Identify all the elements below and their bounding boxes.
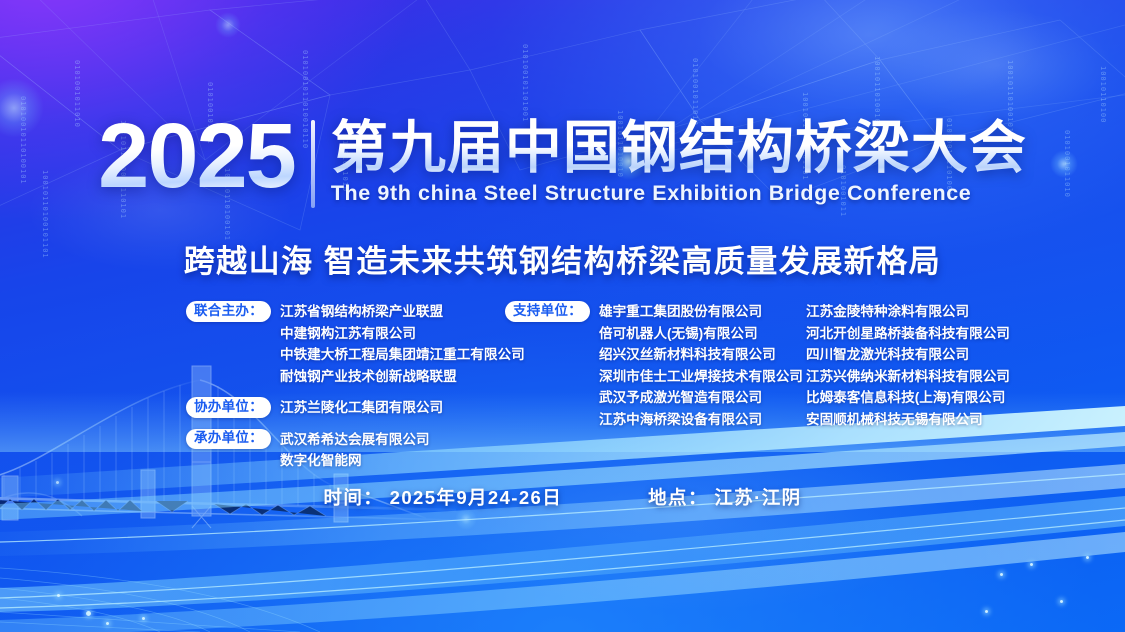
list-item: 耐蚀钢产业技术创新战略联盟 xyxy=(280,366,525,388)
organizer-group-undertaker: 承办单位： 武汉希希达会展有限公司 数字化智能网 xyxy=(186,429,506,472)
list-item: 数字化智能网 xyxy=(280,450,430,472)
list-item: 中铁建大桥工程局集团靖江重工有限公司 xyxy=(280,344,525,366)
banner-content: 2025 第九届中国钢结构桥梁大会 The 9th china Steel St… xyxy=(0,0,1125,632)
organizer-group-supporters: 支持单位： 雄宇重工集团股份有限公司 倍可机器人(无锡)有限公司 绍兴汉丝新材料… xyxy=(505,301,785,430)
organizer-group-co-organizers: 协办单位： 江苏兰陵化工集团有限公司 xyxy=(186,397,506,419)
event-date: 时间： 2025年9月24-26日 xyxy=(323,484,562,510)
title-divider xyxy=(311,120,315,208)
list-item: 比姆泰客信息科技(上海)有限公司 xyxy=(806,387,1066,409)
list-item: 深圳市佳士工业焊接技术有限公司 xyxy=(599,366,803,388)
undertaker-name-list: 武汉希希达会展有限公司 数字化智能网 xyxy=(280,429,430,472)
slogan: 跨越山海 智造未来共筑钢结构桥梁高质量发展新格局 xyxy=(0,236,1125,281)
label-supporters: 支持单位： xyxy=(505,301,590,322)
title-row: 2025 第九届中国钢结构桥梁大会 The 9th china Steel St… xyxy=(0,118,1125,208)
page-title: 第九届中国钢结构桥梁大会 xyxy=(331,118,1027,178)
supporter-name-list: 雄宇重工集团股份有限公司 倍可机器人(无锡)有限公司 绍兴汉丝新材料科技有限公司… xyxy=(599,301,803,430)
organizers-column-left: 联合主办： 江苏省钢结构桥梁产业联盟 中建钢构江苏有限公司 中铁建大桥工程局集团… xyxy=(186,301,506,472)
list-item: 绍兴汉丝新材料科技有限公司 xyxy=(599,344,803,366)
list-item: 武汉希希达会展有限公司 xyxy=(280,429,430,451)
organizer-group-co-hosts: 联合主办： 江苏省钢结构桥梁产业联盟 中建钢构江苏有限公司 中铁建大桥工程局集团… xyxy=(186,301,506,387)
list-item: 武汉予成激光智造有限公司 xyxy=(599,387,803,409)
list-item: 安固顺机械科技无锡有限公司 xyxy=(806,409,1066,431)
label-undertaker: 承办单位： xyxy=(186,429,271,450)
list-item: 倍可机器人(无锡)有限公司 xyxy=(599,323,803,345)
conference-banner: 01010010110100101 10010110100101101 0101… xyxy=(0,0,1125,632)
list-item: 江苏兴佛纳米新材料科技有限公司 xyxy=(806,366,1066,388)
year-2025: 2025 xyxy=(98,118,295,195)
organizers-column-right: 江苏金陵特种涂料有限公司 河北开创星路桥装备科技有限公司 四川智龙激光科技有限公… xyxy=(806,301,1066,430)
organizers-column-middle: 支持单位： 雄宇重工集团股份有限公司 倍可机器人(无锡)有限公司 绍兴汉丝新材料… xyxy=(505,301,785,430)
co-organizer-name-list: 江苏兰陵化工集团有限公司 xyxy=(280,397,443,419)
event-details: 时间： 2025年9月24-26日 地点： 江苏·江阴 xyxy=(0,484,1125,510)
label-co-hosts: 联合主办： xyxy=(186,301,271,322)
list-item: 中建钢构江苏有限公司 xyxy=(280,323,525,345)
list-item: 雄宇重工集团股份有限公司 xyxy=(599,301,803,323)
list-item: 江苏省钢结构桥梁产业联盟 xyxy=(280,301,525,323)
list-item: 江苏金陵特种涂料有限公司 xyxy=(806,301,1066,323)
title-block: 第九届中国钢结构桥梁大会 The 9th china Steel Structu… xyxy=(331,118,1027,206)
event-location: 地点： 江苏·江阴 xyxy=(648,484,801,510)
list-item: 河北开创星路桥装备科技有限公司 xyxy=(806,323,1066,345)
supporter-name-list-continued: 江苏金陵特种涂料有限公司 河北开创星路桥装备科技有限公司 四川智龙激光科技有限公… xyxy=(806,301,1066,430)
label-co-organizers: 协办单位： xyxy=(186,397,271,418)
list-item: 江苏兰陵化工集团有限公司 xyxy=(280,397,443,419)
page-subtitle-english: The 9th china Steel Structure Exhibition… xyxy=(331,181,1027,206)
co-host-name-list: 江苏省钢结构桥梁产业联盟 中建钢构江苏有限公司 中铁建大桥工程局集团靖江重工有限… xyxy=(280,301,525,387)
list-item: 江苏中海桥梁设备有限公司 xyxy=(599,409,803,431)
list-item: 四川智龙激光科技有限公司 xyxy=(806,344,1066,366)
